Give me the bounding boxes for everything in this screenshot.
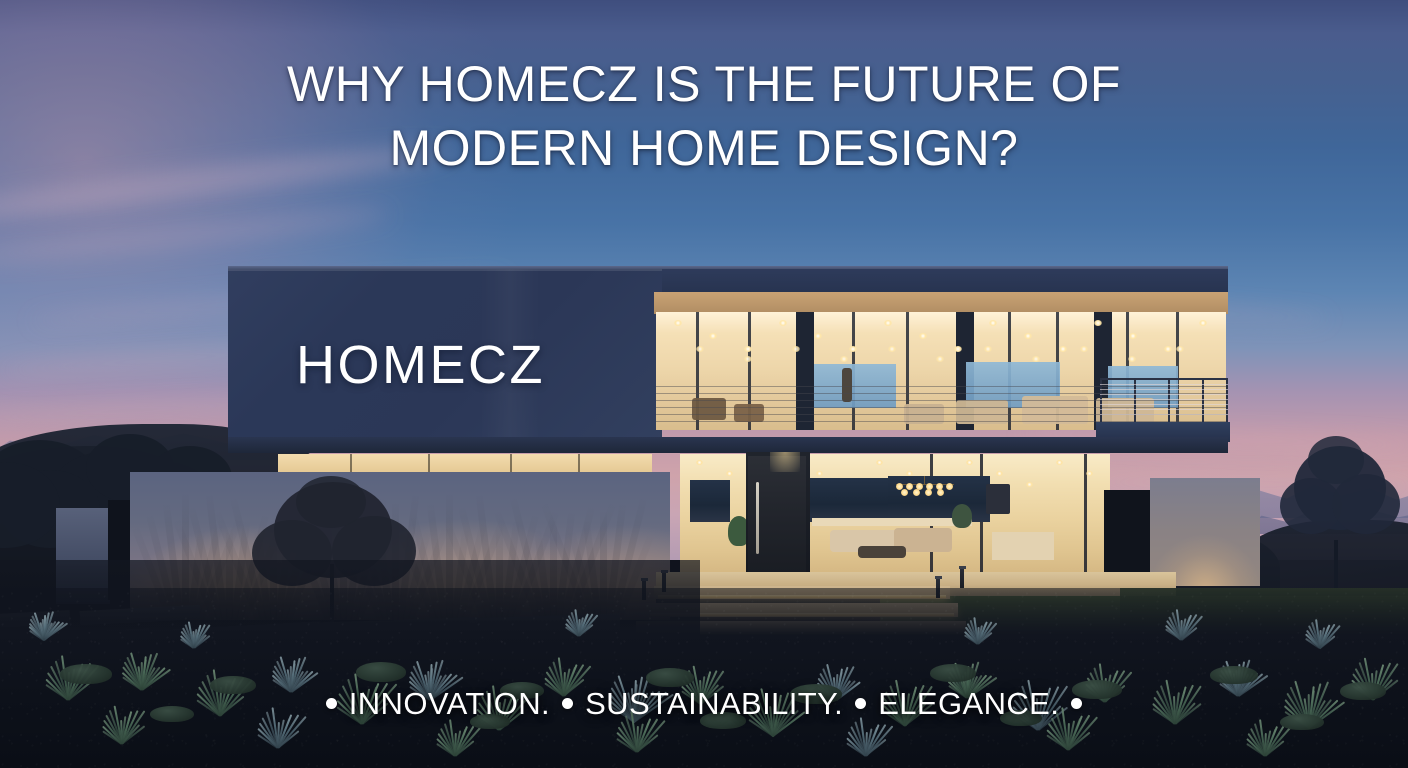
interior-tv [986,484,1010,514]
glass-pier [796,312,814,430]
ceiling-downlight [1086,471,1093,476]
ceiling-downlight [840,356,848,362]
chandelier-bulb [913,489,920,496]
low-shrub [356,662,406,682]
chandelier [896,476,954,498]
ceiling-downlight [1128,356,1136,362]
ceiling-downlight [744,346,752,352]
ceiling-downlight [984,346,992,352]
tagline-item-innovation: INNOVATION. [349,686,550,721]
ceiling-downlight [1094,320,1102,326]
low-shrub [60,664,112,684]
entry-door[interactable] [748,456,806,580]
mid-level-fascia [228,437,1228,453]
ceiling-downlight [674,320,682,326]
ceiling-downlight [849,346,857,352]
chandelier-bulb [946,483,953,490]
ornamental-grass [24,610,62,640]
page-title: WHY HOMECZ IS THE FUTURE OF MODERN HOME … [0,52,1408,180]
low-shrub [1210,666,1258,684]
clerestory-mullion [428,454,430,474]
ceiling-downlight [1056,460,1063,465]
tagline-item-sustainability: SUSTAINABILITY. [585,686,843,721]
interior-night-window [690,480,730,522]
chandelier-bulb [901,489,908,496]
balcony-cable [1100,409,1228,410]
ceiling-downlight [726,471,733,476]
chandelier-bulb [937,489,944,496]
right-plaster-wall [1150,478,1260,586]
interior-cabinet [992,532,1054,560]
ceiling-downlight [1080,346,1088,352]
interior-coffee-table [858,546,906,558]
ceiling-downlight [1024,333,1032,339]
ceiling-downlight [876,460,883,465]
ceiling-downlight [696,346,704,352]
clerestory-window-strip [278,454,652,474]
balcony-cable [1100,414,1228,415]
ceiling-downlight [1026,482,1033,487]
balcony-cable [1100,404,1228,405]
ceiling-downlight [989,320,997,326]
low-shrub [930,664,976,682]
balcony-top-rail [1100,378,1228,380]
ornamental-grass [960,616,994,644]
entry-downlight [770,452,800,472]
interior-furniture [692,398,726,420]
ceiling-downlight [814,333,822,339]
ornamental-grass [176,620,210,648]
hero-banner: WHY HOMECZ IS THE FUTURE OF MODERN HOME … [0,0,1408,768]
ceiling-downlight [966,460,973,465]
clerestory-mullion [350,454,352,474]
brand-logo: HOMECZ [296,338,545,392]
bollard-light [960,566,964,588]
tagline-item-elegance: ELEGANCE. [878,686,1059,721]
clerestory-mullion [510,454,512,474]
ceiling-downlight [884,320,892,326]
balcony-cable [1100,389,1228,390]
ceiling-downlight [816,471,823,476]
interior-plant [952,504,972,528]
soffit-downlight-group [654,296,1228,312]
balcony-cable [1100,399,1228,400]
bullet-icon [562,698,573,709]
bullet-icon [1071,698,1082,709]
bullet-icon [855,698,866,709]
bullet-icon [326,698,337,709]
ornamental-grass [560,608,596,636]
ceiling-downlight [954,346,962,352]
ceiling-downlight [888,346,896,352]
ceiling-downlight [919,333,927,339]
ground-floor-glass-wall [680,454,1110,580]
ceiling-downlight [996,471,1003,476]
ceiling-downlight [792,346,800,352]
chandelier-bulb [906,483,913,490]
interior-sculpture [842,368,852,402]
chandelier-bulb [925,489,932,496]
ceiling-downlight [1059,346,1067,352]
door-handle[interactable] [756,482,759,554]
ceiling-downlight [1164,346,1172,352]
balcony-cable [1100,384,1228,385]
ceiling-downlight [1176,346,1184,352]
ceiling-downlight [779,320,787,326]
clerestory-mullion [578,454,580,474]
tagline-bar: INNOVATION.SUSTAINABILITY.ELEGANCE. [0,684,1408,724]
cable-rail-balcony [1100,378,1228,422]
ceiling-downlight [936,356,944,362]
ceiling-downlight [709,333,717,339]
balcony-cable [1100,394,1228,395]
interior-counter [812,518,972,526]
ceiling-downlight [696,460,703,465]
ornamental-grass [1160,608,1200,640]
ceiling-downlight [1199,320,1207,326]
ceiling-downlight [1129,333,1137,339]
ornamental-grass [1300,618,1338,648]
ceiling-downlight [744,356,752,362]
